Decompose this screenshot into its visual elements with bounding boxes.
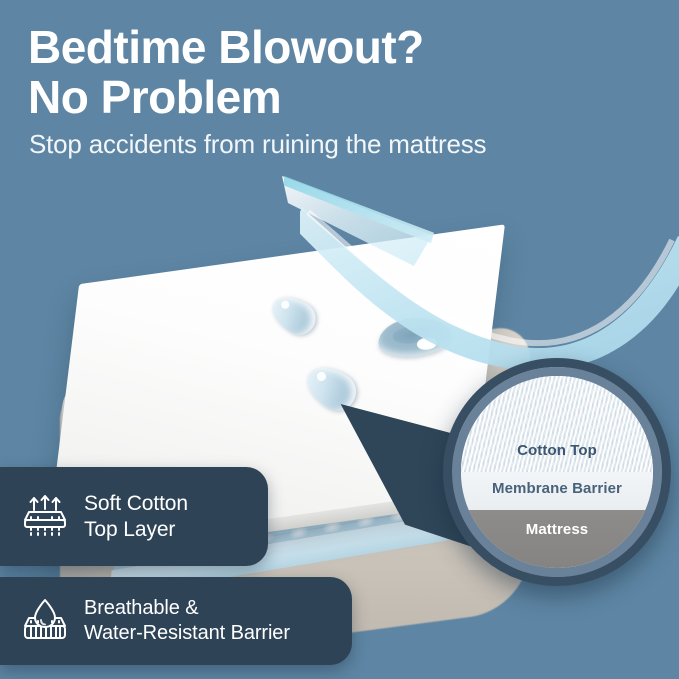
layer-label-mattress: Mattress [461, 521, 653, 538]
layer-label-membrane-barrier: Membrane Barrier [461, 480, 653, 497]
headline-line-1: Bedtime Blowout? [28, 21, 424, 73]
product-hero-image: Cotton Top Membrane Barrier Mattress Bed… [0, 0, 679, 679]
water-droplet-mattress-icon [16, 592, 74, 650]
layer-mattress [461, 510, 653, 568]
feature-badge-water-resistant: Breathable & Water-Resistant Barrier [0, 577, 352, 665]
page-title: Bedtime Blowout? No Problem [28, 22, 628, 122]
feature-badge-label: Soft Cotton Top Layer [84, 491, 188, 543]
feature-badge-label: Breathable & Water-Resistant Barrier [84, 596, 290, 646]
page-subtitle: Stop accidents from ruining the mattress [29, 128, 649, 160]
magnifier-cross-section: Cotton Top Membrane Barrier Mattress [461, 376, 653, 568]
feature-badge-soft-cotton: Soft Cotton Top Layer [0, 467, 268, 566]
breathable-mattress-arrows-icon [16, 488, 74, 546]
headline-line-2: No Problem [28, 72, 628, 122]
liquid-stream [300, 196, 679, 371]
layer-label-cotton-top: Cotton Top [461, 442, 653, 459]
